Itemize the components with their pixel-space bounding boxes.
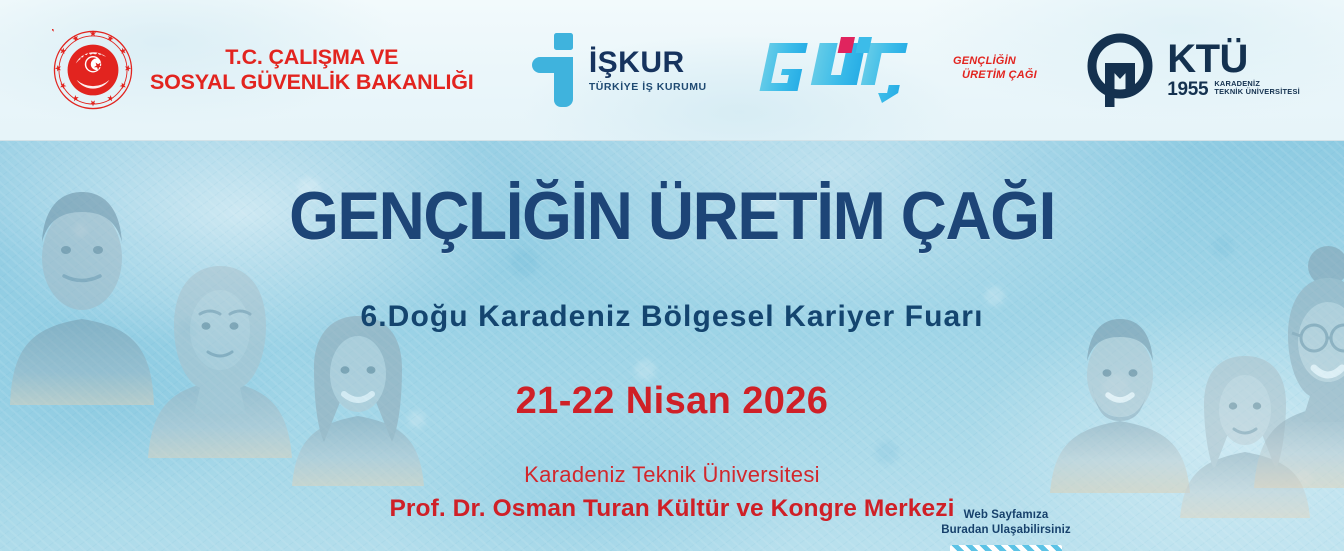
guc-wordmark-icon <box>757 37 947 103</box>
qr-label: Web Sayfamıza Buradan Ulaşabilirsiniz <box>936 508 1076 538</box>
career-fair-banner: T.C. ÇALIŞMA VE SOSYAL GÜVENLİK BAKANLIĞ… <box>0 0 1344 551</box>
poster-content: GENÇLİĞİN ÜRETİM ÇAĞI 6.Doğu Karadeniz B… <box>0 140 1344 551</box>
venue-institution: Karadeniz Teknik Üniversitesi <box>0 460 1344 490</box>
qr-code-block[interactable]: Web Sayfamıza Buradan Ulaşabilirsiniz <box>936 508 1076 551</box>
venue-hall: Prof. Dr. Osman Turan Kültür ve Kongre M… <box>0 493 1344 525</box>
ktu-full-name: KARADENİZ TEKNİK ÜNİVERSİTESİ <box>1214 80 1300 100</box>
ministry-name-line1: T.C. ÇALIŞMA VE <box>150 45 474 70</box>
qr-label-line2: Buradan Ulaşabilirsiniz <box>936 523 1076 538</box>
logo-ktu: KTÜ 1955 KARADENİZ TEKNİK ÜNİVERSİTESİ <box>1083 33 1300 107</box>
event-subtitle: 6.Doğu Karadeniz Bölgesel Kariyer Fuarı <box>0 300 1344 334</box>
iskur-subtitle: TÜRKİYE İŞ KURUMU <box>589 82 707 93</box>
logo-iskur: İŞKUR TÜRKİYE İŞ KURUMU <box>532 33 707 107</box>
ktu-year: 1955 <box>1167 80 1208 99</box>
event-date: 21-22 Nisan 2026 <box>0 380 1344 423</box>
ministry-name-line2: SOSYAL GÜVENLİK BAKANLIĞI <box>150 70 474 95</box>
ministry-name: T.C. ÇALIŞMA VE SOSYAL GÜVENLİK BAKANLIĞ… <box>150 45 474 95</box>
poster-body: GENÇLİĞİN ÜRETİM ÇAĞI 6.Doğu Karadeniz B… <box>0 140 1344 551</box>
ktu-full-line1: KARADENİZ <box>1214 79 1260 88</box>
ktu-name: KTÜ <box>1167 41 1300 78</box>
guc-tagline-line1: GENÇLİĞİN <box>953 55 1016 67</box>
guc-tagline: GENÇLİĞİN ÜRETİM ÇAĞI <box>953 55 1037 83</box>
qr-label-line1: Web Sayfamıza <box>936 508 1076 523</box>
iskur-name: İŞKUR <box>589 48 707 78</box>
logo-header-bar: T.C. ÇALIŞMA VE SOSYAL GÜVENLİK BAKANLIĞ… <box>0 0 1344 141</box>
turkish-ministry-seal-icon <box>52 29 134 111</box>
ktu-full-line2: TEKNİK ÜNİVERSİTESİ <box>1214 87 1300 96</box>
page-title: GENÇLİĞİN ÜRETİM ÇAĞI <box>40 182 1303 250</box>
logo-ministry-of-labour: T.C. ÇALIŞMA VE SOSYAL GÜVENLİK BAKANLIĞ… <box>52 29 474 111</box>
guc-tagline-line2: ÜRETİM ÇAĞI <box>953 69 1037 83</box>
logo-guc: GENÇLİĞİN ÜRETİM ÇAĞI <box>757 37 1037 103</box>
iskur-mark-icon <box>532 33 578 107</box>
event-venue: Karadeniz Teknik Üniversitesi Prof. Dr. … <box>0 460 1344 525</box>
ktu-emblem-icon <box>1083 33 1157 107</box>
qr-frame <box>950 545 1062 551</box>
